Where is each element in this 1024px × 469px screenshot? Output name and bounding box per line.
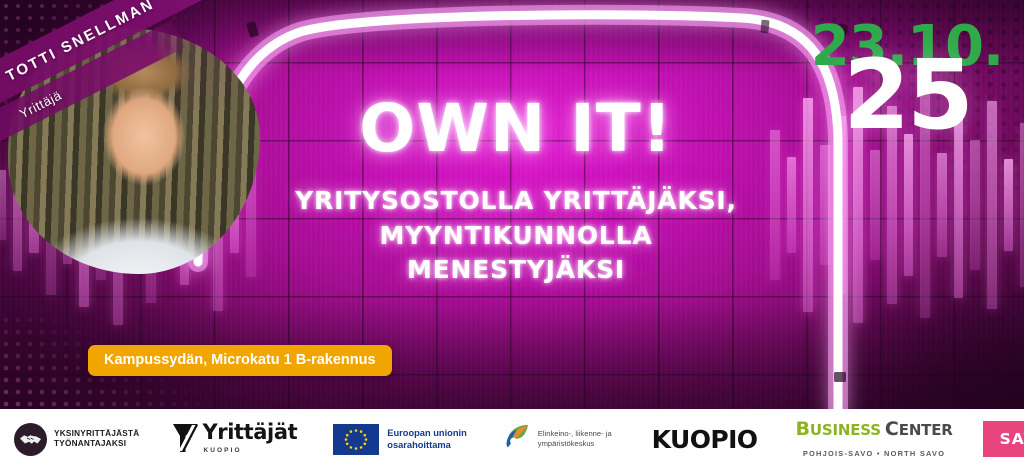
logo-yrittajat-kuopio[interactable]: Yrittäjät KUOPIO [173,422,297,457]
logo-eu-label: Euroopan unionin osarahoittama [387,427,467,451]
logo-savonia[interactable]: SAVONIA [983,421,1024,457]
event-subtitle: YRITYSOSTOLLA YRITTÄJÄKSI, MYYNTIKUNNOLL… [266,184,766,288]
logo-yksinyrittajasta-tyonantajaksi[interactable]: YKSINYRITTÄJÄSTÄ TYÖNANTAJAKSI [14,423,139,456]
halftone-dots-bottom-right [744,289,1024,409]
logo-yrittajat-name: Yrittäjät [202,422,297,443]
logo-yksinyrittajasta-label: YKSINYRITTÄJÄSTÄ TYÖNANTAJAKSI [54,429,139,450]
sponsor-logo-strip: YKSINYRITTÄJÄSTÄ TYÖNANTAJAKSI Yrittäjät… [0,409,1024,469]
logo-ely-label: Elinkeino-, liikenne- ja ympäristökeskus [538,429,612,449]
event-headline: OWN IT! [266,96,766,162]
venue-badge: Kampussydän, Microkatu 1 B-rakennus [88,345,392,376]
logo-savonia-label: SAVONIA [1000,430,1024,448]
ely-leaf-icon [503,423,531,456]
speaker-portrait: TOTTI SNELLMAN Yrittäjä [8,28,260,274]
logo-bc-enter: ENTER [899,421,953,439]
hero-section: TOTTI SNELLMAN Yrittäjä 23.10. 25 OWN IT… [0,0,1024,409]
logo-ely-keskus[interactable]: Elinkeino-, liikenne- ja ympäristökeskus [503,423,612,456]
logo-kuopio[interactable]: KUOPIO [652,425,758,454]
eu-flag-icon [333,424,379,455]
yrittajat-flag-icon [173,424,198,457]
logo-bc-sub: POHJOIS-SAVO • NORTH SAVO [803,449,945,458]
logo-bc-b: B [795,418,809,440]
logo-bc-usiness: USINESS [810,421,881,439]
logo-business-center[interactable]: BUSINESSCENTER POHJOIS-SAVO • NORTH SAVO [795,420,952,458]
logo-yrittajat-sub: KUOPIO [203,447,297,454]
event-banner: TOTTI SNELLMAN Yrittäjä 23.10. 25 OWN IT… [0,0,1024,469]
headline-block: OWN IT! YRITYSOSTOLLA YRITTÄJÄKSI, MYYNT… [266,96,766,288]
logo-bc-c: C [885,418,899,440]
handshake-icon [14,423,47,456]
logo-euroopan-unionin[interactable]: Euroopan unionin osarahoittama [333,424,467,455]
event-date: 23.10. 25 [802,24,1012,135]
logo-kuopio-label: KUOPIO [652,425,758,454]
